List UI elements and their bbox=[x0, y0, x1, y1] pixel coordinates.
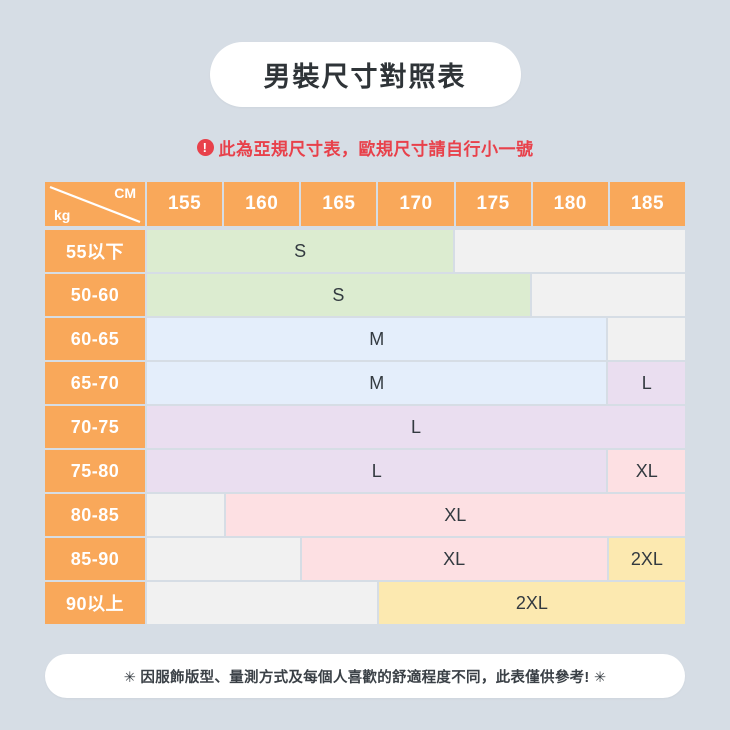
table-corner-cell: CM kg bbox=[45, 182, 145, 226]
size-cell-M: M bbox=[147, 362, 606, 404]
size-table: CM kg 155160165170175180185 55以下S50-60S6… bbox=[45, 182, 685, 624]
column-header-160: 160 bbox=[224, 182, 299, 226]
size-cell-L: L bbox=[147, 406, 685, 448]
row-cells: XL2XL bbox=[147, 538, 685, 580]
row-label-70-75: 70-75 bbox=[45, 406, 145, 448]
exclamation-circle-icon: ! bbox=[197, 139, 214, 156]
table-row: 85-90XL2XL bbox=[45, 538, 685, 580]
table-body: 55以下S50-60S60-65M65-70ML70-75L75-80LXL80… bbox=[45, 228, 685, 624]
table-row: 60-65M bbox=[45, 318, 685, 360]
subtitle-notice: ! 此為亞規尺寸表，歐規尺寸請自行小一號 bbox=[197, 135, 534, 160]
size-cell-XL: XL bbox=[608, 450, 685, 492]
row-cells: 2XL bbox=[147, 582, 685, 624]
size-cell-2XL: 2XL bbox=[379, 582, 685, 624]
row-label-85-90: 85-90 bbox=[45, 538, 145, 580]
row-label-75-80: 75-80 bbox=[45, 450, 145, 492]
size-cell-M: M bbox=[147, 318, 606, 360]
row-label-55以下: 55以下 bbox=[45, 230, 145, 272]
size-cell-empty bbox=[147, 494, 224, 536]
row-cells: LXL bbox=[147, 450, 685, 492]
row-cells: M bbox=[147, 318, 685, 360]
subtitle-text: 此為亞規尺寸表，歐規尺寸請自行小一號 bbox=[219, 135, 534, 160]
size-cell-empty bbox=[147, 582, 377, 624]
size-chart-page: 男裝尺寸對照表 ! 此為亞規尺寸表，歐規尺寸請自行小一號 CM kg 15516… bbox=[0, 0, 730, 730]
table-row: 75-80LXL bbox=[45, 450, 685, 492]
size-cell-XL: XL bbox=[302, 538, 607, 580]
table-row: 55以下S bbox=[45, 230, 685, 272]
size-cell-empty bbox=[532, 274, 685, 316]
column-header-170: 170 bbox=[378, 182, 453, 226]
corner-cm-label: CM bbox=[114, 185, 136, 201]
size-cell-XL: XL bbox=[226, 494, 685, 536]
column-header-180: 180 bbox=[533, 182, 608, 226]
column-header-175: 175 bbox=[456, 182, 531, 226]
size-cell-empty bbox=[608, 318, 685, 360]
size-cell-L: L bbox=[147, 450, 606, 492]
footer-note-pill: ✳ 因服飾版型、量測方式及每個人喜歡的舒適程度不同，此表僅供參考! ✳ bbox=[45, 654, 685, 698]
size-cell-empty bbox=[147, 538, 300, 580]
table-row: 80-85XL bbox=[45, 494, 685, 536]
page-title-pill: 男裝尺寸對照表 bbox=[210, 42, 521, 107]
header-columns: 155160165170175180185 bbox=[147, 182, 685, 226]
table-row: 50-60S bbox=[45, 274, 685, 316]
table-header-row: CM kg 155160165170175180185 bbox=[45, 182, 685, 226]
row-cells: L bbox=[147, 406, 685, 448]
size-cell-S: S bbox=[147, 230, 453, 272]
row-cells: ML bbox=[147, 362, 685, 404]
size-cell-empty bbox=[455, 230, 685, 272]
row-label-90以上: 90以上 bbox=[45, 582, 145, 624]
corner-kg-label: kg bbox=[54, 207, 70, 223]
row-cells: S bbox=[147, 274, 685, 316]
footer-note: ✳ 因服飾版型、量測方式及每個人喜歡的舒適程度不同，此表僅供參考! ✳ bbox=[124, 666, 607, 687]
column-header-165: 165 bbox=[301, 182, 376, 226]
page-title: 男裝尺寸對照表 bbox=[264, 55, 467, 94]
row-label-80-85: 80-85 bbox=[45, 494, 145, 536]
table-row: 70-75L bbox=[45, 406, 685, 448]
row-label-60-65: 60-65 bbox=[45, 318, 145, 360]
table-row: 65-70ML bbox=[45, 362, 685, 404]
row-cells: S bbox=[147, 230, 685, 272]
column-header-155: 155 bbox=[147, 182, 222, 226]
column-header-185: 185 bbox=[610, 182, 685, 226]
row-label-65-70: 65-70 bbox=[45, 362, 145, 404]
size-cell-2XL: 2XL bbox=[609, 538, 685, 580]
size-cell-L: L bbox=[608, 362, 685, 404]
row-label-50-60: 50-60 bbox=[45, 274, 145, 316]
size-cell-S: S bbox=[147, 274, 530, 316]
row-cells: XL bbox=[147, 494, 685, 536]
table-row: 90以上2XL bbox=[45, 582, 685, 624]
